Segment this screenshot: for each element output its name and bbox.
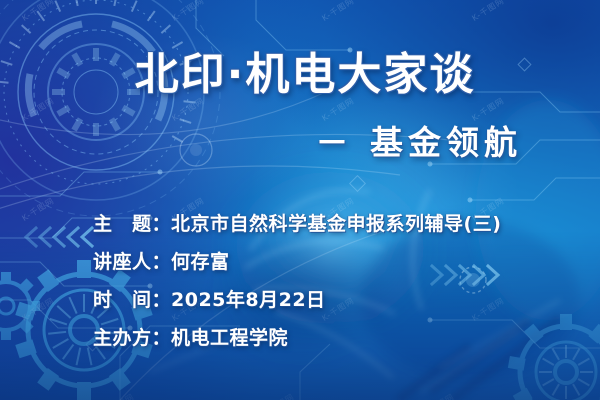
info-value-organizer: 机电工程学院: [171, 327, 288, 349]
info-label-organizer: 主办方：: [93, 327, 171, 349]
poster-title: 北印·机电大家谈: [0, 38, 600, 102]
poster-canvas: K-千图网 K-千图网 K-千图网 K-千图网 K-千图网 K-千图网 K-千图…: [0, 0, 600, 400]
info-value-time: 2025年8月22日: [171, 289, 326, 311]
info-value-topic: 北京市自然科学基金申报系列辅导(三): [171, 213, 501, 235]
poster-info-block: 主 题：北京市自然科学基金申报系列辅导(三) 讲座人：何存富 时 间：2025年…: [93, 205, 501, 357]
info-label-topic: 主 题：: [93, 213, 171, 235]
info-row-organizer: 主办方：机电工程学院: [93, 319, 501, 357]
info-label-time: 时 间：: [93, 289, 171, 311]
info-row-time: 时 间：2025年8月22日: [93, 281, 501, 319]
info-label-speaker: 讲座人：: [93, 251, 171, 273]
info-row-topic: 主 题：北京市自然科学基金申报系列辅导(三): [93, 205, 501, 243]
info-value-speaker: 何存富: [171, 251, 230, 273]
info-row-speaker: 讲座人：何存富: [93, 243, 501, 281]
poster-subtitle: － 基金领航: [316, 116, 523, 164]
